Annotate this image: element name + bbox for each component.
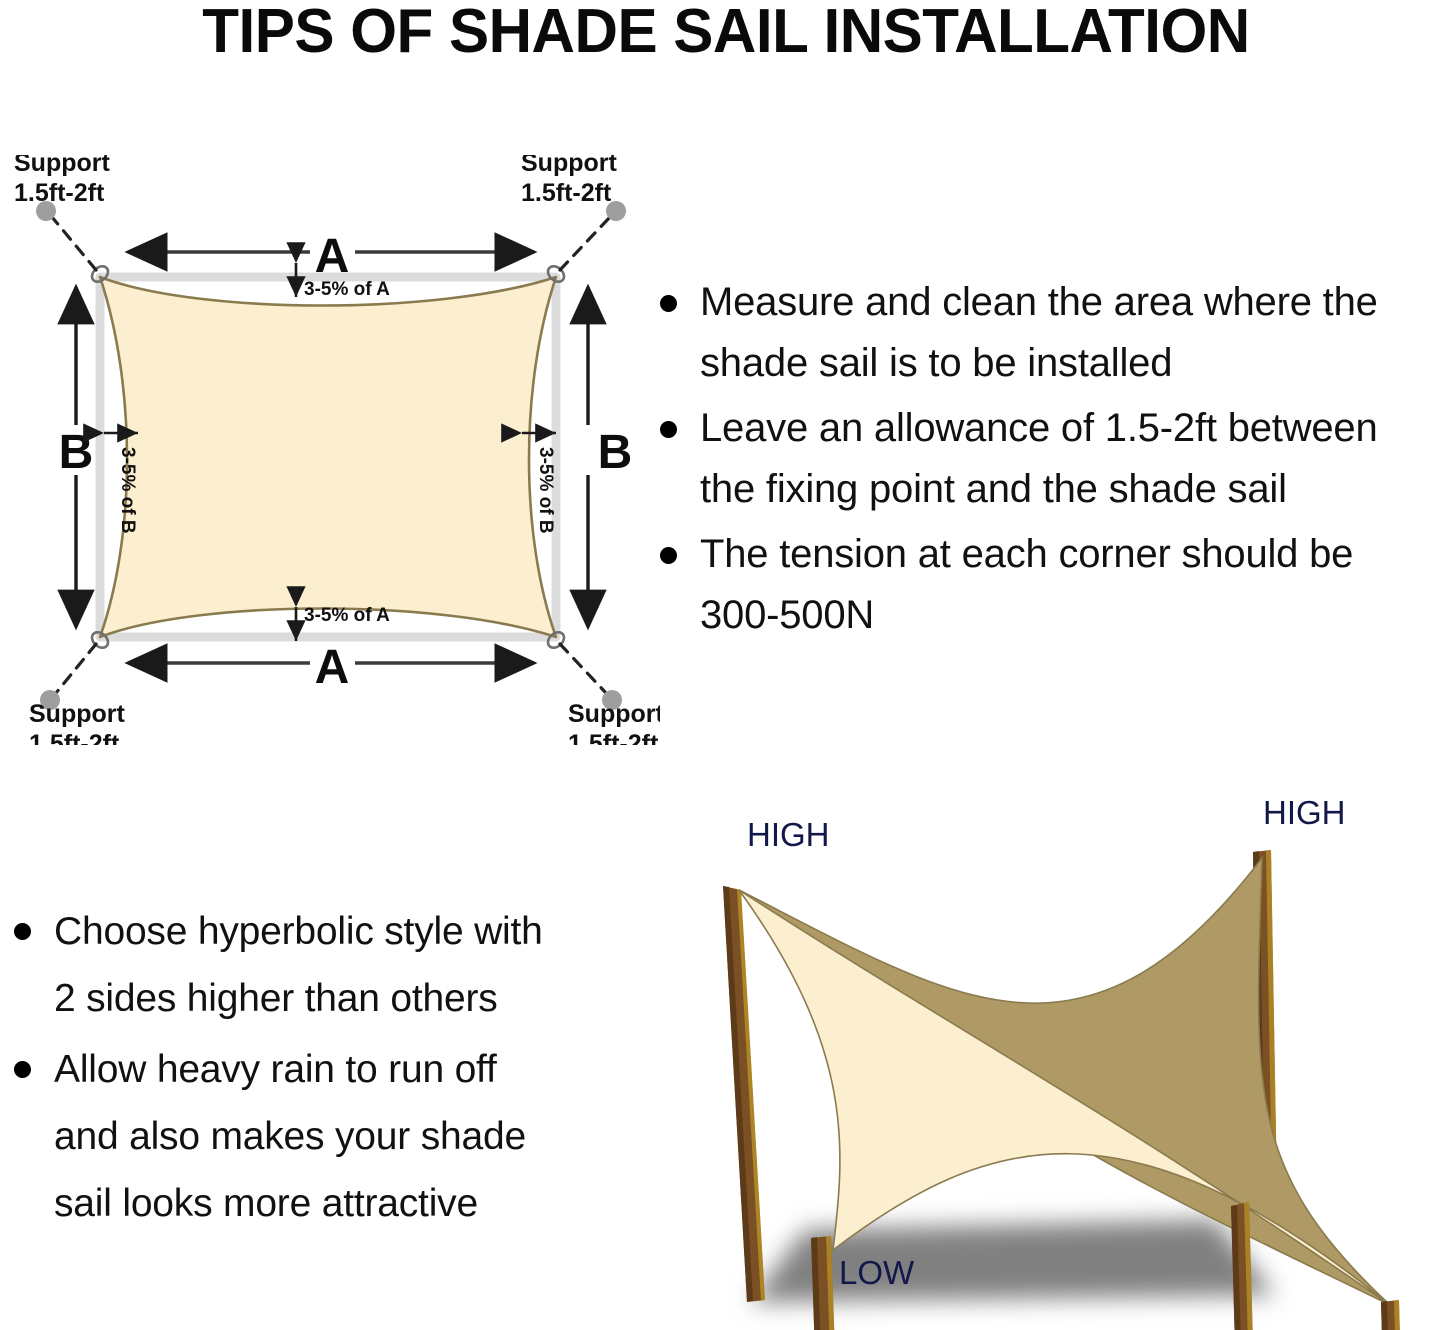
label-high-right: HIGH bbox=[1263, 794, 1346, 831]
label-high-left: HIGH bbox=[747, 816, 830, 853]
support-label-top-right-line2: 1.5ft-2ft bbox=[521, 179, 612, 207]
support-label-top-left-line1: Support bbox=[14, 155, 110, 177]
hyperbolic-sail-illustration: HIGH HIGH LOW LOW bbox=[655, 790, 1452, 1330]
label-b-right: B bbox=[598, 426, 633, 479]
label-curve-top: 3-5% of A bbox=[304, 279, 390, 300]
bullet-dot-icon bbox=[660, 295, 677, 312]
bullet-dot-icon bbox=[660, 421, 677, 438]
tip-line: Measure and clean the area where the bbox=[700, 272, 1452, 333]
list-item: Leave an allowance of 1.5-2ft between th… bbox=[648, 398, 1452, 520]
support-label-bottom-left-line2: 1.5ft-2ft bbox=[29, 730, 120, 745]
installation-tips-list: Measure and clean the area where the sha… bbox=[648, 272, 1452, 650]
post-high-left bbox=[723, 886, 765, 1302]
rectangular-sail-dimension-diagram: A A B B 3-5% of A 3-5% of A 3-5% of B 3-… bbox=[0, 155, 660, 745]
label-curve-left: 3-5% of B bbox=[117, 447, 138, 534]
dimension-b-left: B bbox=[59, 287, 94, 627]
tip-line: sail looks more attractive bbox=[54, 1170, 622, 1237]
page-title: TIPS OF SHADE SAIL INSTALLATION bbox=[22, 0, 1430, 66]
support-label-top-right-line1: Support bbox=[521, 155, 617, 177]
label-curve-bottom: 3-5% of A bbox=[304, 605, 390, 626]
list-item: Allow heavy rain to run off and also mak… bbox=[2, 1036, 622, 1237]
tip-line: and also makes your shade bbox=[54, 1103, 622, 1170]
support-label-bottom-right-line1: Support bbox=[568, 700, 660, 728]
tip-line: shade sail is to be installed bbox=[700, 333, 1452, 394]
post-low-right bbox=[1381, 1300, 1407, 1330]
list-item: Choose hyperbolic style with 2 sides hig… bbox=[2, 898, 622, 1032]
tip-line: Allow heavy rain to run off bbox=[54, 1036, 622, 1103]
list-item: Measure and clean the area where the sha… bbox=[648, 272, 1452, 394]
hyperbolic-tips-list: Choose hyperbolic style with 2 sides hig… bbox=[2, 898, 622, 1241]
label-a-bottom: A bbox=[315, 641, 350, 694]
dimension-a-bottom: A bbox=[128, 641, 534, 694]
tip-line: 2 sides higher than others bbox=[54, 965, 622, 1032]
list-item: The tension at each corner should be 300… bbox=[648, 524, 1452, 646]
bullet-dot-icon bbox=[14, 1061, 31, 1078]
tip-line: The tension at each corner should be bbox=[700, 524, 1452, 585]
sail-body bbox=[100, 277, 556, 637]
tip-line: Choose hyperbolic style with bbox=[54, 898, 622, 965]
bullet-dot-icon bbox=[660, 547, 677, 564]
callout-curve-left: 3-5% of B bbox=[104, 433, 138, 534]
label-b-left: B bbox=[59, 426, 94, 479]
dimension-b-right: B bbox=[588, 287, 632, 627]
tip-line: 300-500N bbox=[700, 585, 1452, 646]
support-label-top-left-line2: 1.5ft-2ft bbox=[14, 179, 105, 207]
label-low-left: LOW bbox=[839, 1254, 915, 1291]
tip-line: Leave an allowance of 1.5-2ft between bbox=[700, 398, 1452, 459]
label-curve-right: 3-5% of B bbox=[535, 447, 556, 534]
label-a-top: A bbox=[315, 230, 350, 283]
support-label-bottom-right-line2: 1.5ft-2ft bbox=[568, 730, 659, 745]
tip-line: the fixing point and the shade sail bbox=[700, 459, 1452, 520]
support-label-bottom-left-line1: Support bbox=[29, 700, 125, 728]
bullet-dot-icon bbox=[14, 923, 31, 940]
